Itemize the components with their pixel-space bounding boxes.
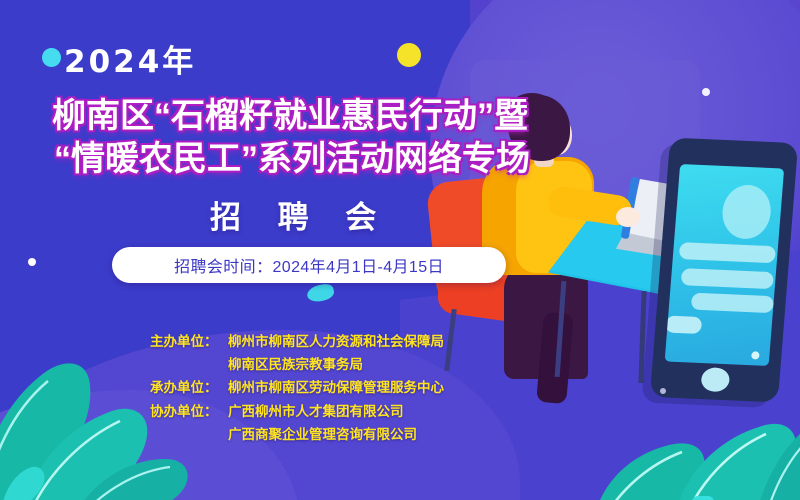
- poster-title: 柳南区“石榴籽就业惠民行动”暨 “情暖农民工”系列活动网络专场: [38, 95, 618, 181]
- profile-line-placeholder: [679, 242, 776, 263]
- smartphone-illustration: [650, 138, 798, 403]
- poster-subtitle: 招 聘 会: [210, 192, 390, 237]
- white-dot-icon: [702, 88, 710, 96]
- white-dot-icon: [28, 258, 36, 266]
- event-date-text: 招聘会时间：2024年4月1日-4月15日: [174, 253, 444, 277]
- event-date-badge: 招聘会时间：2024年4月1日-4月15日: [112, 247, 506, 283]
- organizer-label: 承办单位：: [150, 376, 228, 399]
- leaf-decoration: [580, 390, 800, 500]
- title-line-2: “情暖农民工”系列活动网络专场: [38, 138, 618, 181]
- yellow-dot-icon: [397, 43, 421, 67]
- desk-leg: [638, 291, 646, 383]
- profile-dot-placeholder: [751, 351, 760, 359]
- recruitment-poster: 2024年 柳南区“石榴籽就业惠民行动”暨 “情暖农民工”系列活动网络专场 招 …: [0, 0, 800, 500]
- organizer-list: 主办单位： 柳州市柳南区人力资源和社会保障局 柳南区民族宗教事务局 承办单位： …: [150, 330, 444, 446]
- year-label: 2024年: [64, 36, 196, 81]
- profile-avatar-placeholder: [721, 184, 773, 240]
- organizer-value: 柳南区民族宗教事务局: [228, 353, 363, 376]
- organizer-row: 主办单位： 柳州市柳南区人力资源和社会保障局: [150, 330, 444, 353]
- title-line-1: 柳南区“石榴籽就业惠民行动”暨: [38, 95, 618, 138]
- person-hand: [616, 207, 640, 227]
- white-dot-icon: [660, 388, 666, 394]
- profile-line-placeholder: [681, 268, 774, 289]
- organizer-label: 协办单位：: [150, 400, 228, 423]
- profile-line-placeholder: [691, 293, 774, 314]
- profile-chip-placeholder: [665, 315, 702, 334]
- organizer-row: 广西商聚企业管理咨询有限公司: [150, 423, 444, 446]
- organizer-label: 主办单位：: [150, 330, 228, 353]
- phone-screen: [665, 164, 784, 366]
- organizer-value: 柳州市柳南区劳动保障管理服务中心: [228, 376, 444, 399]
- organizer-row: 协办单位： 广西柳州市人才集团有限公司: [150, 400, 444, 423]
- organizer-value: 广西商聚企业管理咨询有限公司: [228, 423, 417, 446]
- organizer-label: [150, 353, 228, 376]
- organizer-value: 柳州市柳南区人力资源和社会保障局: [228, 330, 444, 353]
- organizer-label: [150, 423, 228, 446]
- phone-home-button: [700, 367, 730, 392]
- organizer-row: 承办单位： 柳州市柳南区劳动保障管理服务中心: [150, 376, 444, 399]
- chair-leg: [444, 309, 457, 371]
- organizer-row: 柳南区民族宗教事务局: [150, 353, 444, 376]
- cyan-dot-icon: [42, 48, 61, 67]
- organizer-value: 广西柳州市人才集团有限公司: [228, 400, 404, 423]
